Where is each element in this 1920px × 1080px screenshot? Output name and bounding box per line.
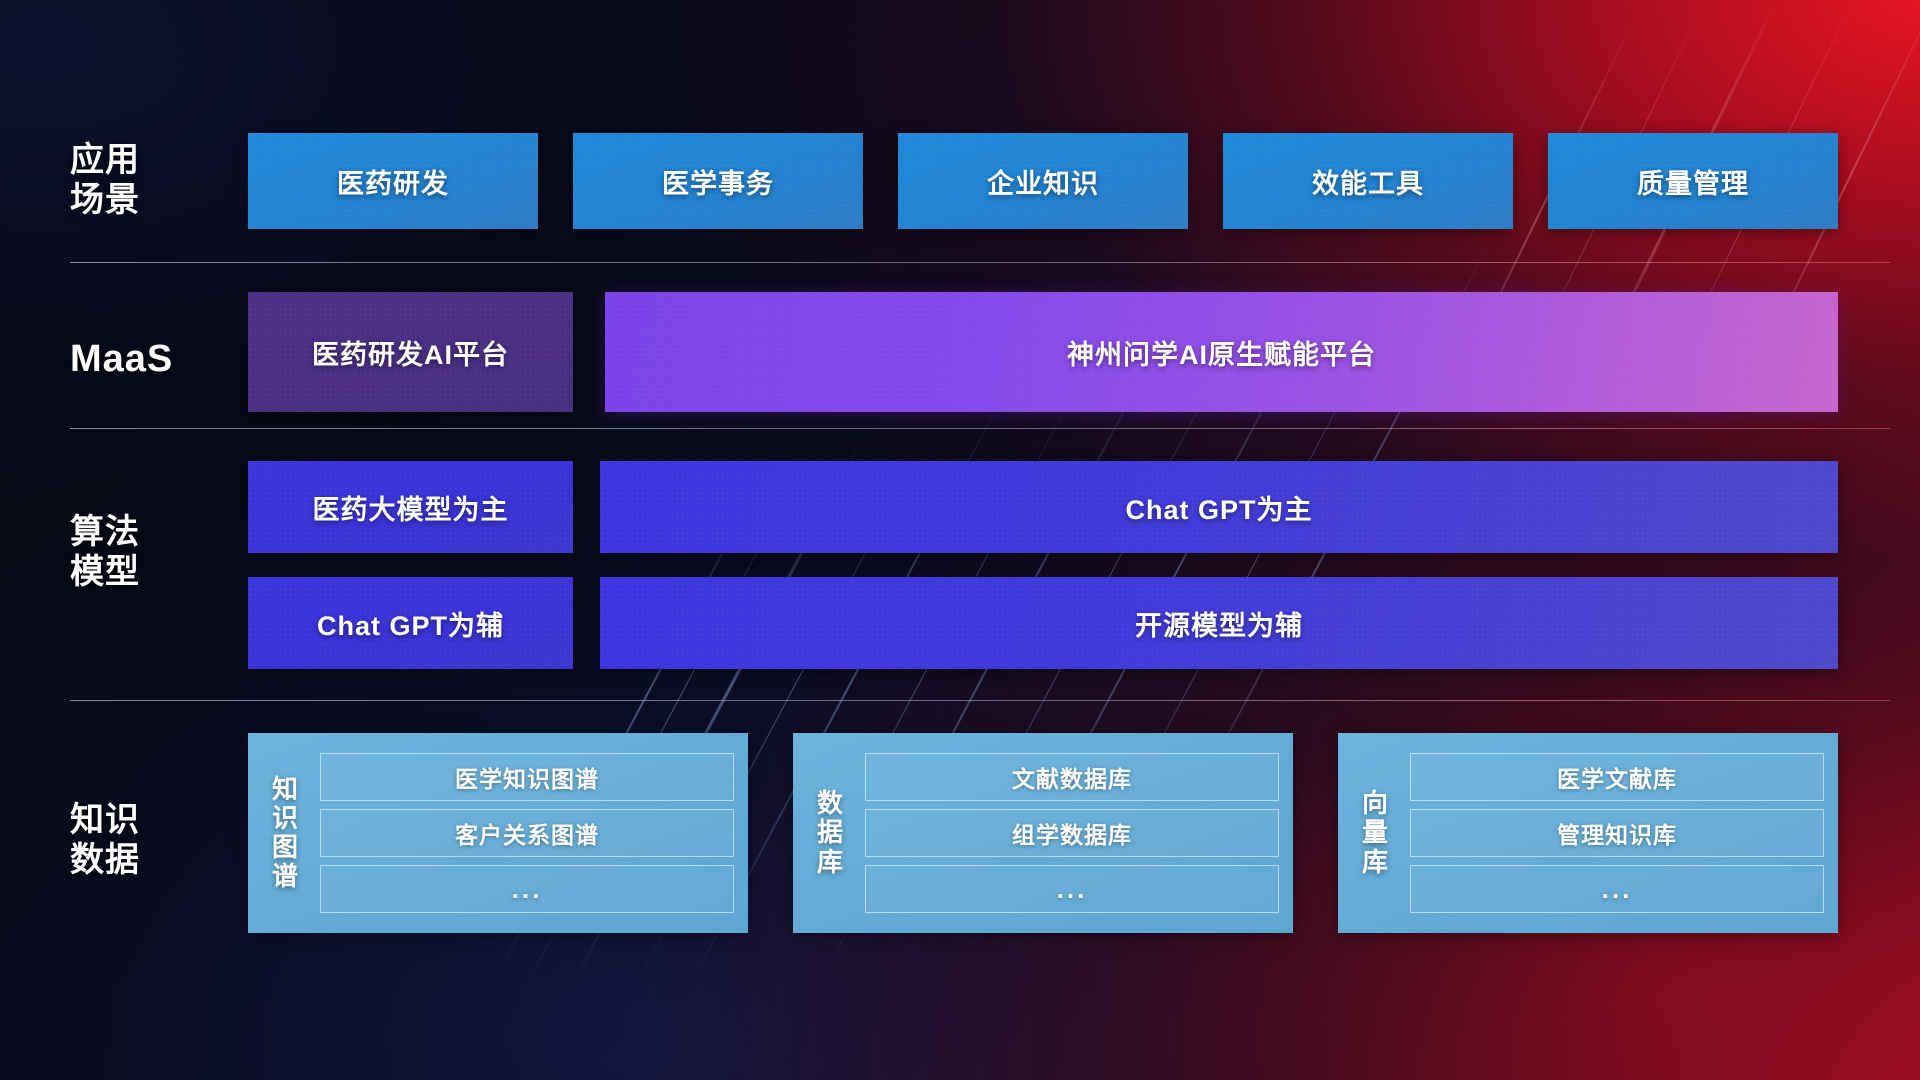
knowledge-panel-database-title: 数 据 库 [803,789,857,876]
row-label-knowledge: 知识 数据 [70,800,200,880]
knowledge-panel-vector-items: 医学文献库 管理知识库 ... [1410,753,1824,913]
knowledge-item-more[interactable]: ... [865,865,1279,913]
row-label-application: 应用 场景 [70,140,200,220]
app-box-2-label: 医学事务 [662,162,774,201]
knowledge-item-more[interactable]: ... [320,865,734,913]
algo-box-opensource-secondary[interactable]: 开源模型为辅 [600,577,1838,669]
maas-platform-shenzhou[interactable]: 神州问学AI原生赋能平台 [605,292,1838,412]
knowledge-panel-graph[interactable]: 知 识 图 谱 医学知识图谱 客户关系图谱 ... [248,733,748,933]
algo-box-opensource-secondary-label: 开源模型为辅 [1135,604,1303,643]
divider-algorithm-knowledge [70,700,1890,701]
knowledge-panel-database-items: 文献数据库 组学数据库 ... [865,753,1279,913]
algo-box-chatgpt-secondary[interactable]: Chat GPT为辅 [248,577,573,669]
divider-application-maas [70,262,1890,263]
algo-box-medical-primary-label: 医药大模型为主 [313,488,509,527]
knowledge-panel-vector[interactable]: 向 量 库 医学文献库 管理知识库 ... [1338,733,1838,933]
knowledge-item[interactable]: 客户关系图谱 [320,809,734,857]
maas-platform-medical-label: 医药研发AI平台 [312,333,509,372]
app-box-2[interactable]: 医学事务 [573,133,863,229]
app-box-1[interactable]: 医药研发 [248,133,538,229]
knowledge-panel-graph-items: 医学知识图谱 客户关系图谱 ... [320,753,734,913]
app-box-1-label: 医药研发 [337,162,449,201]
knowledge-item[interactable]: 医学知识图谱 [320,753,734,801]
algo-box-chatgpt-secondary-label: Chat GPT为辅 [317,604,504,643]
divider-maas-algorithm [70,428,1890,429]
knowledge-item[interactable]: 文献数据库 [865,753,1279,801]
app-box-4-label: 效能工具 [1312,162,1424,201]
algo-box-chatgpt-primary[interactable]: Chat GPT为主 [600,461,1838,553]
knowledge-item-more[interactable]: ... [1410,865,1824,913]
row-label-algorithm: 算法 模型 [70,512,200,592]
knowledge-panel-database[interactable]: 数 据 库 文献数据库 组学数据库 ... [793,733,1293,933]
algo-box-chatgpt-primary-label: Chat GPT为主 [1125,488,1312,527]
knowledge-panel-graph-title: 知 识 图 谱 [258,775,312,891]
app-box-5[interactable]: 质量管理 [1548,133,1838,229]
app-box-3[interactable]: 企业知识 [898,133,1188,229]
knowledge-item[interactable]: 管理知识库 [1410,809,1824,857]
knowledge-panel-vector-title: 向 量 库 [1348,789,1402,876]
knowledge-item[interactable]: 组学数据库 [865,809,1279,857]
knowledge-item[interactable]: 医学文献库 [1410,753,1824,801]
algo-box-medical-primary[interactable]: 医药大模型为主 [248,461,573,553]
app-box-4[interactable]: 效能工具 [1223,133,1513,229]
maas-platform-medical[interactable]: 医药研发AI平台 [248,292,573,412]
app-box-5-label: 质量管理 [1637,162,1749,201]
maas-platform-shenzhou-label: 神州问学AI原生赋能平台 [1067,333,1376,372]
row-label-maas: MaaS [70,337,200,382]
app-box-3-label: 企业知识 [987,162,1099,201]
